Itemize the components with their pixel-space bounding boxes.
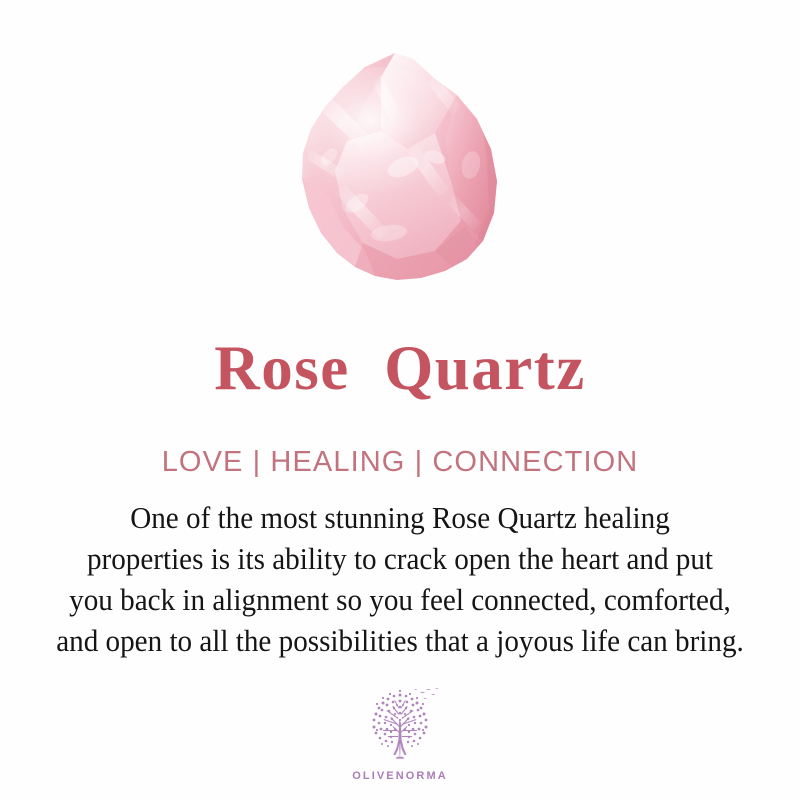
tree-of-life-icon (357, 686, 443, 768)
description-line: properties is its ability to crack open … (39, 539, 761, 580)
description-line: and open to all the possibilities that a… (39, 621, 761, 662)
page-title: Rose Quartz (0, 332, 800, 404)
product-card: Rose Quartz LOVE | HEALING | CONNECTION … (0, 0, 800, 800)
description-line: you back in alignment so you feel connec… (39, 580, 761, 621)
description-line: One of the most stunning Rose Quartz hea… (39, 498, 761, 539)
product-image-container (0, 0, 800, 320)
description-paragraph: One of the most stunning Rose Quartz hea… (22, 498, 778, 662)
brand-logo: OLIVENORMA (0, 686, 800, 782)
brand-name: OLIVENORMA (0, 770, 800, 782)
rose-quartz-crystal-icon (285, 45, 515, 290)
subtitle-keywords: LOVE | HEALING | CONNECTION (0, 445, 800, 479)
